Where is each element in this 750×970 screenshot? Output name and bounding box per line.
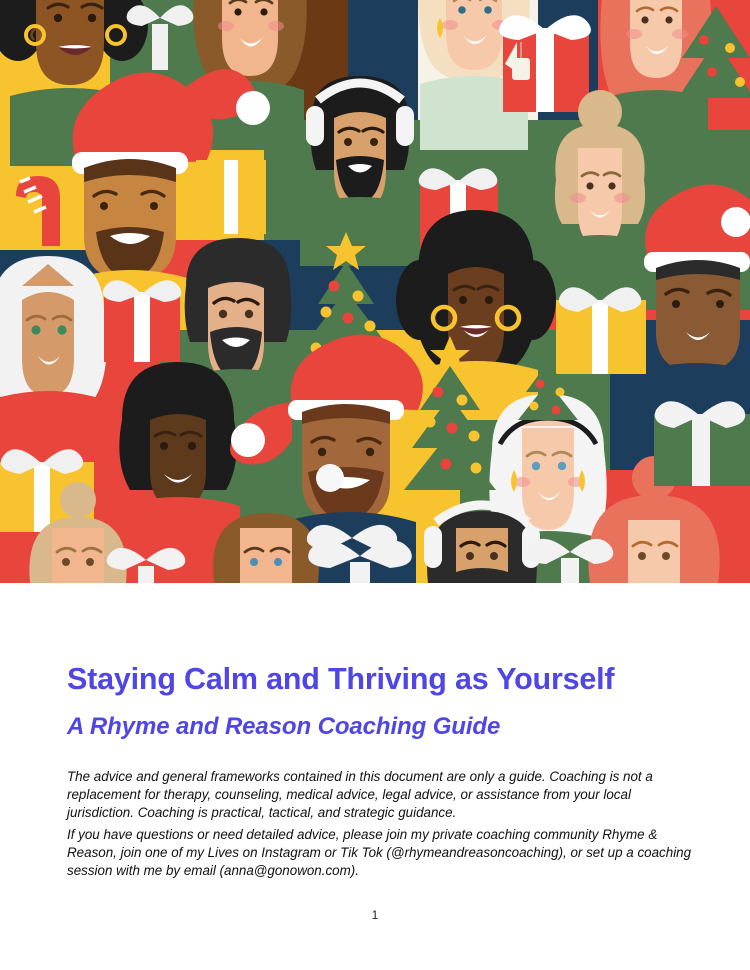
person-white-hair-woman-row3 xyxy=(0,256,107,470)
page-number: 1 xyxy=(0,908,750,922)
gift-box-green-row4-right xyxy=(654,401,750,486)
page-title: Staying Calm and Thriving as Yourself xyxy=(67,663,697,695)
person-santa-hat-man-row3-right xyxy=(640,184,750,424)
document-text-block: Staying Calm and Thriving as Yourself A … xyxy=(0,583,750,970)
contact-paragraph: If you have questions or need detailed a… xyxy=(67,826,693,881)
gift-box-red-row3-left xyxy=(103,280,182,362)
person-bottom-headphones-man xyxy=(424,505,540,583)
gift-box-red-top xyxy=(499,15,591,112)
document-page: Staying Calm and Thriving as Yourself A … xyxy=(0,0,750,970)
holiday-crowd-illustration xyxy=(0,0,750,583)
gift-box-yellow-row3-right xyxy=(556,287,646,374)
gift-box-yellow-row2 xyxy=(196,160,266,234)
page-subtitle: A Rhyme and Reason Coaching Guide xyxy=(67,714,697,740)
hero-illustration xyxy=(0,0,750,583)
disclaimer-paragraph: The advice and general frameworks contai… xyxy=(67,768,693,823)
